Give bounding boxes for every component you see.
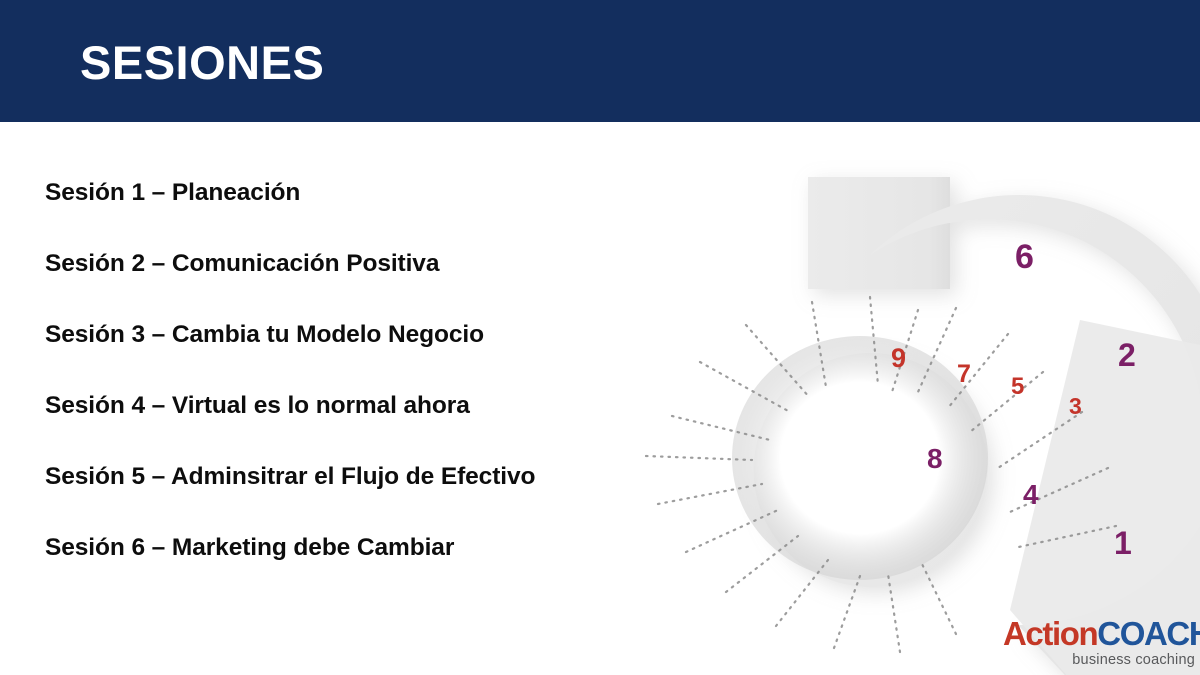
- arc-number-3: 3: [1069, 395, 1082, 418]
- list-item: Sesión 3 – Cambia tu Modelo Negocio: [45, 320, 745, 350]
- page-title: SESIONES: [80, 35, 324, 91]
- arc-number-8: 8: [927, 445, 943, 473]
- logo-wordmark: ActionCOACH®: [1003, 613, 1200, 651]
- arc-number-2: 2: [1118, 339, 1136, 371]
- arc-tab: [808, 177, 950, 289]
- arc-number-1: 1: [1114, 527, 1132, 559]
- arc-inner-hole: [732, 336, 988, 580]
- slide-canvas: SESIONES Sesión 1 – Planeación Sesión 2 …: [0, 0, 1200, 675]
- arc-number-6: 6: [1015, 240, 1034, 274]
- arc-number-4: 4: [1023, 481, 1039, 509]
- arc-number-5: 5: [1011, 375, 1024, 399]
- logo-tagline: business coaching: [1003, 652, 1200, 668]
- list-item: Sesión 1 – Planeación: [45, 178, 745, 208]
- list-item: Sesión 2 – Comunicación Positiva: [45, 249, 745, 279]
- logo-action-text: Action: [1003, 615, 1097, 652]
- header-band: SESIONES: [0, 0, 1200, 122]
- actioncoach-logo: ActionCOACH® business coaching: [1003, 613, 1200, 669]
- list-item: Sesión 4 – Virtual es lo normal ahora: [45, 391, 745, 421]
- list-item: Sesión 6 – Marketing debe Cambiar: [45, 533, 745, 563]
- logo-coach-text: COACH: [1097, 615, 1200, 652]
- session-list: Sesión 1 – Planeación Sesión 2 – Comunic…: [45, 178, 745, 604]
- arc-body: [754, 195, 1200, 675]
- list-item: Sesión 5 – Adminsitrar el Flujo de Efect…: [45, 462, 745, 492]
- arc-number-7: 7: [957, 362, 971, 387]
- arc-number-9: 9: [891, 345, 906, 372]
